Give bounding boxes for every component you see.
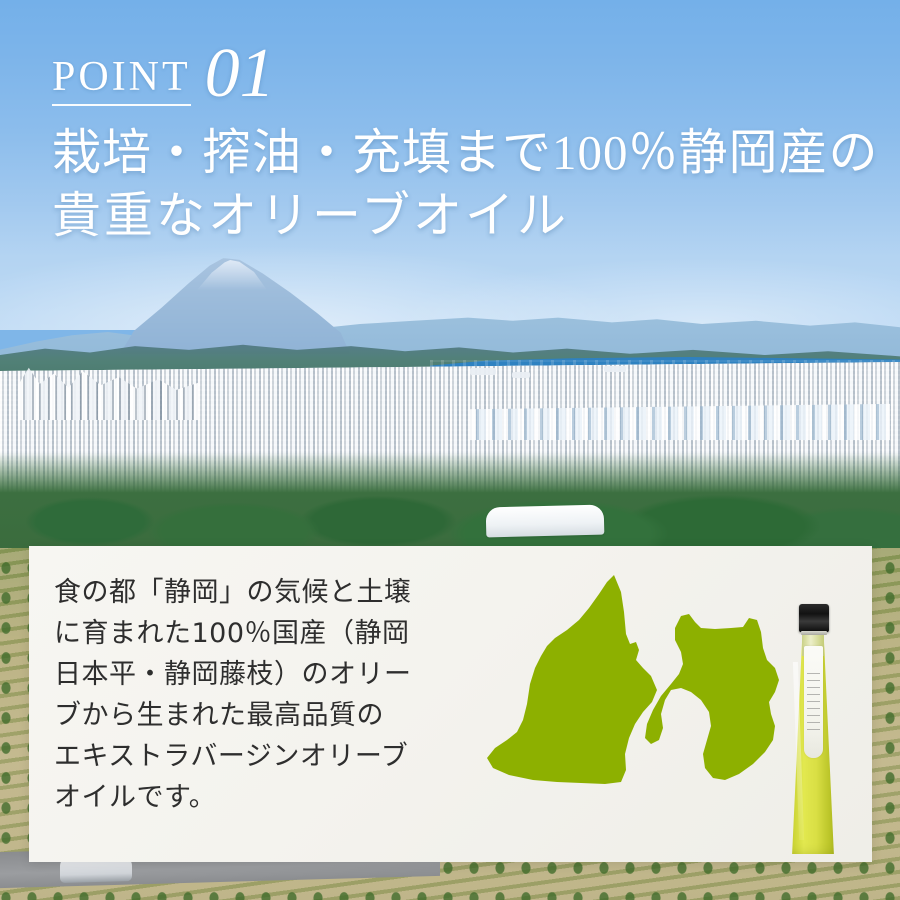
headline-block: POINT 01 栽培・搾油・充填まで100％静岡産の 貴重なオリーブオイル <box>52 34 872 247</box>
greenhouse <box>486 505 605 538</box>
cargo-ship-1 <box>470 368 496 375</box>
bottle-label <box>804 646 823 758</box>
description-line: オイルです。 <box>54 777 484 818</box>
point-number: 01 <box>205 42 275 106</box>
shizuoka-map-east-shape <box>645 614 779 780</box>
point-label-row: POINT 01 <box>52 34 872 106</box>
point-01-promo-banner: POINT 01 栽培・搾油・充填まで100％静岡産の 貴重なオリーブオイル 食… <box>0 0 900 900</box>
shizuoka-map-west-shape <box>487 575 657 784</box>
description-line: ブから生まれた最高品質の <box>54 695 484 736</box>
shizuoka-prefecture-map <box>485 572 780 797</box>
page-title: 栽培・搾油・充填まで100％静岡産の 貴重なオリーブオイル <box>52 122 872 247</box>
description-line: に育まれた100％国産（静岡 <box>54 613 484 654</box>
description-line: 日本平・静岡藤枝）のオリー <box>54 654 484 695</box>
olive-oil-bottle <box>768 602 860 854</box>
description-text: 食の都「静岡」の気候と土壌 に育まれた100％国産（静岡 日本平・静岡藤枝）のオ… <box>54 572 484 818</box>
headline-line-1: 栽培・搾油・充填まで100％静岡産の <box>52 122 872 185</box>
bottle-label-text-lines <box>807 672 820 730</box>
point-label: POINT <box>52 56 191 106</box>
headline-line-2: 貴重なオリーブオイル <box>52 185 872 248</box>
cargo-ship-2 <box>512 372 530 378</box>
description-line: 食の都「静岡」の気候と土壌 <box>54 572 484 613</box>
bottle-cap <box>799 604 829 632</box>
cargo-ship-3 <box>604 366 626 372</box>
description-line: エキストラバージンオリーブ <box>54 736 484 777</box>
